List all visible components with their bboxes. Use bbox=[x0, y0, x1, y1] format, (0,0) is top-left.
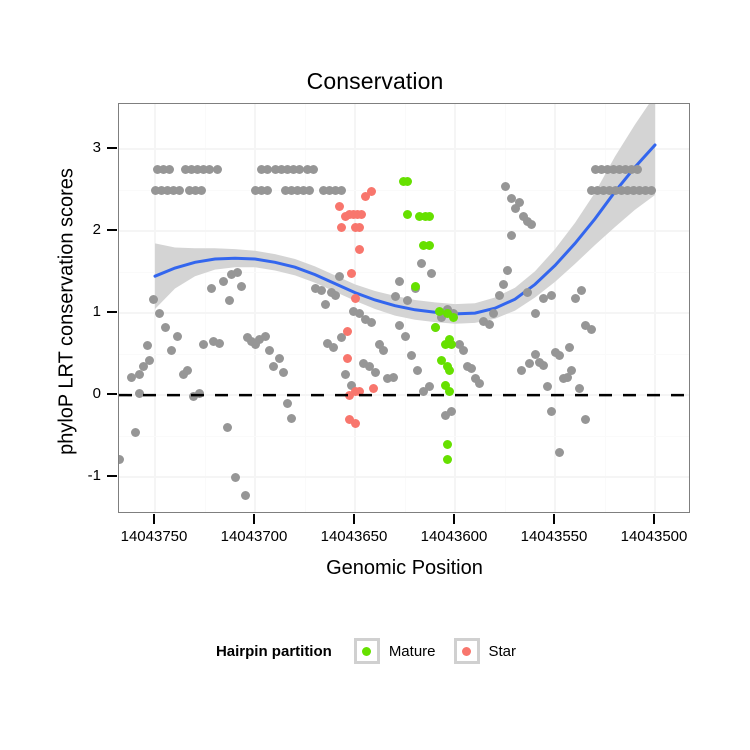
chart-root: Conservation phyloP LRT conservation sco… bbox=[0, 0, 750, 750]
y-axis-tick-label: 2 bbox=[63, 220, 101, 240]
x-axis-tick bbox=[653, 514, 656, 524]
legend-item-star[interactable]: Star bbox=[454, 638, 517, 664]
legend-dot-icon bbox=[362, 647, 371, 656]
legend-dot-icon bbox=[462, 647, 471, 656]
legend-key bbox=[454, 638, 480, 664]
y-axis-tick bbox=[107, 393, 117, 396]
x-axis-tick-label: 14043500 bbox=[594, 528, 714, 545]
x-axis-tick bbox=[353, 514, 356, 524]
legend: Hairpin partition MatureStar bbox=[0, 638, 750, 664]
legend-label: Star bbox=[489, 643, 517, 660]
x-axis-tick bbox=[153, 514, 156, 524]
x-axis-tick bbox=[253, 514, 256, 524]
legend-title: Hairpin partition bbox=[216, 643, 332, 660]
y-axis-tick bbox=[107, 311, 117, 314]
legend-label: Mature bbox=[389, 643, 436, 660]
plot-area bbox=[119, 104, 689, 512]
y-axis-tick-label: 0 bbox=[63, 384, 101, 404]
y-axis-tick bbox=[107, 147, 117, 150]
zero-reference-line bbox=[119, 104, 690, 513]
x-axis-title: Genomic Position bbox=[118, 557, 691, 580]
x-axis-tick bbox=[553, 514, 556, 524]
legend-items: MatureStar bbox=[354, 638, 534, 664]
y-axis-tick-label: 1 bbox=[63, 302, 101, 322]
plot-panel bbox=[118, 103, 690, 513]
legend-key bbox=[354, 638, 380, 664]
y-axis-tick-label: -1 bbox=[63, 466, 101, 486]
page-title: Conservation bbox=[0, 68, 750, 95]
y-axis-tick-label: 3 bbox=[63, 138, 101, 158]
legend-item-mature[interactable]: Mature bbox=[354, 638, 436, 664]
y-axis-tick bbox=[107, 229, 117, 232]
x-axis-tick bbox=[453, 514, 456, 524]
y-axis-tick bbox=[107, 475, 117, 478]
